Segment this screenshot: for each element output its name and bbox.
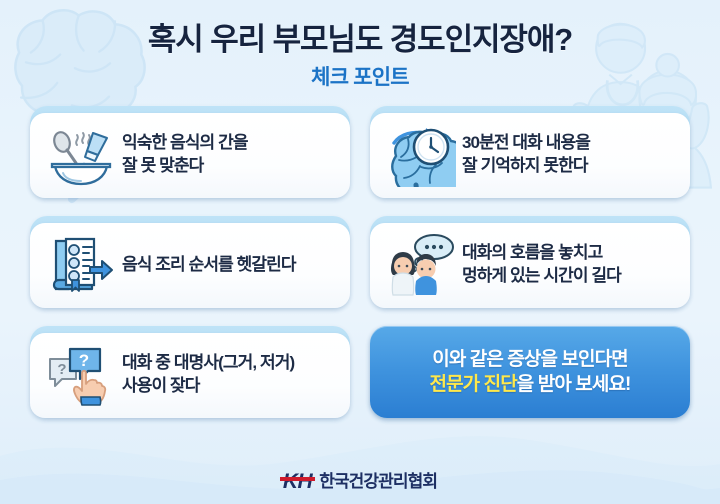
organization-name: 한국건강관리협회 (319, 473, 437, 490)
brain-clock-icon (384, 120, 458, 190)
kh-logo-red-bar (280, 477, 315, 481)
kh-logo-mark: KH (283, 471, 312, 492)
page-subtitle: 체크 포인트 (0, 66, 720, 90)
checkpoint-text: 대화의 호름을 놓치고 멍하게 있는 시간이 길다 (458, 242, 678, 288)
recipe-book-arrow-icon (44, 230, 118, 300)
checkpoint-text: 음식 조리 순서를 헷갈린다 (118, 254, 338, 277)
cta-line-2: 전문가 진단을 받아 보세요! (430, 372, 631, 397)
checkpoint-card-pronoun-usage[interactable]: ? ? 대화 중 대명 (30, 326, 350, 418)
page-title: 혹시 우리 부모님도 경도인지장애? (0, 22, 720, 59)
checkpoint-card-conversation-flow[interactable]: 대화의 호름을 놓치고 멍하게 있는 시간이 길다 (370, 216, 690, 308)
checkpoint-card-recent-conversation-memory[interactable]: 30분전 대화 내용을 잘 기억하지 못한다 (370, 106, 690, 198)
checkpoint-card-cooking-order[interactable]: 음식 조리 순서를 헷갈린다 (30, 216, 350, 308)
two-people-thought-bubble-icon (384, 230, 458, 300)
cta-line-1: 이와 같은 증상을 보인다면 (432, 347, 628, 372)
checkpoint-card-taste-seasoning[interactable]: 익숙한 음식의 간을 잘 못 맞춘다 (30, 106, 350, 198)
poster-header: 혹시 우리 부모님도 경도인지장애? 체크 포인트 (0, 0, 720, 90)
cta-highlight: 전문가 진단 (430, 374, 517, 395)
checkpoint-text: 대화 중 대명사(그거, 저거) 사용이 잦다 (118, 352, 338, 398)
svg-text:?: ? (57, 361, 66, 378)
infographic-poster: 혹시 우리 부모님도 경도인지장애? 체크 포인트 (0, 0, 720, 504)
checkpoint-text: 30분전 대화 내용을 잘 기억하지 못한다 (458, 132, 678, 178)
kh-logo-icon: KH (283, 470, 312, 492)
svg-text:?: ? (79, 351, 89, 370)
footer-branding: KH 한국건강관리협회 (0, 470, 720, 492)
checkpoint-grid: 익숙한 음식의 간을 잘 못 맞춘다 (30, 106, 690, 418)
cta-line-2-rest: 을 받아 보세요! (517, 374, 631, 395)
checkpoint-text: 익숙한 음식의 간을 잘 못 맞춘다 (118, 132, 338, 178)
cta-card-expert-diagnosis[interactable]: 이와 같은 증상을 보인다면 전문가 진단을 받아 보세요! (370, 326, 690, 418)
bowl-spoon-salt-icon (44, 120, 118, 190)
question-speech-bubbles-hand-icon: ? ? (44, 340, 118, 410)
